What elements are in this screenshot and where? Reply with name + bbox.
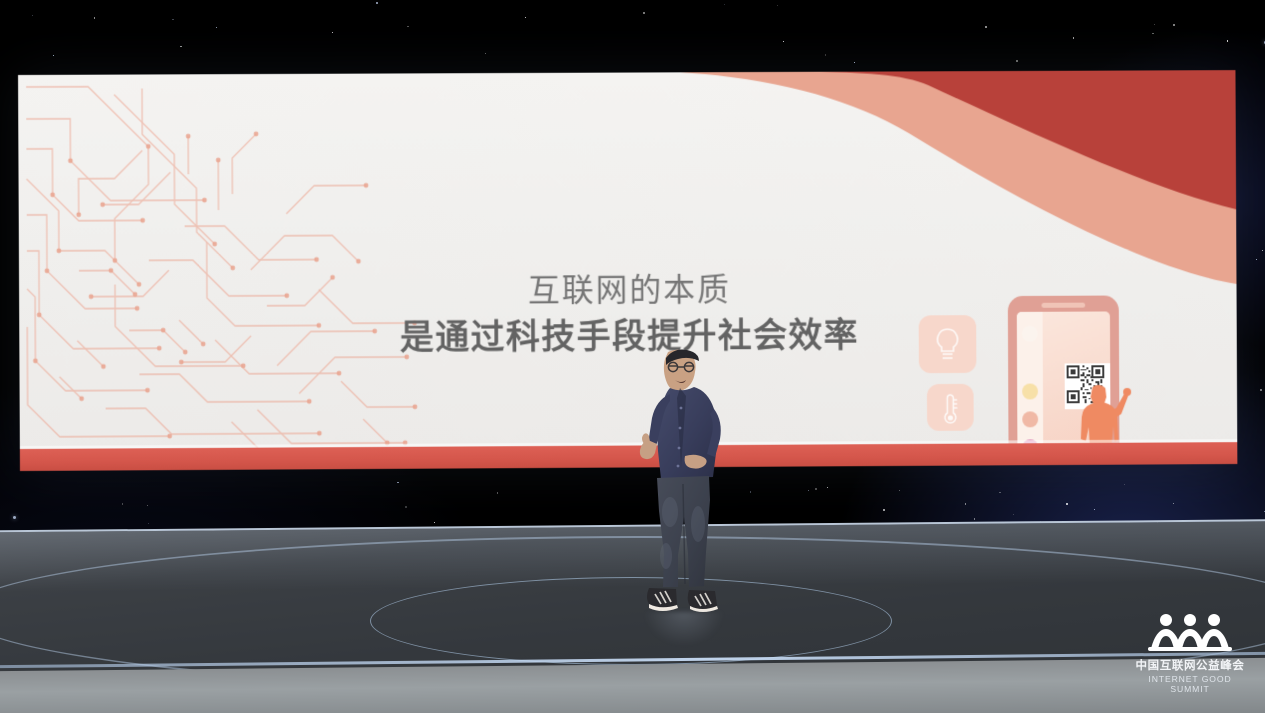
presentation-screen: 互联网的本质 是通过科技手段提升社会效率 bbox=[18, 70, 1237, 471]
app-dot-2 bbox=[1022, 384, 1038, 400]
logo-title-cn: 中国互联网公益峰会 bbox=[1128, 657, 1252, 673]
slide-headline: 互联网的本质 是通过科技手段提升社会效率 bbox=[19, 265, 1237, 365]
headline-line-2: 是通过科技手段提升社会效率 bbox=[19, 310, 1237, 364]
slide-canvas: 互联网的本质 是通过科技手段提升社会效率 bbox=[18, 70, 1237, 471]
speaker-body bbox=[648, 387, 721, 479]
logo-title-en: INTERNET GOOD SUMMIT bbox=[1128, 674, 1252, 694]
thermometer-card bbox=[927, 384, 974, 431]
thermometer-icon bbox=[927, 384, 974, 431]
stage-scene: 互联网的本质 是通过科技手段提升社会效率 bbox=[0, 0, 1265, 713]
speaker-head bbox=[664, 350, 699, 392]
speaker-shoes bbox=[647, 588, 718, 612]
event-logo: 中国互联网公益峰会 INTERNET GOOD SUMMIT bbox=[1128, 612, 1252, 694]
keynote-speaker bbox=[630, 344, 734, 616]
speaker-legs bbox=[657, 476, 710, 587]
speaker-floor-reflection bbox=[644, 612, 724, 646]
app-dot-3 bbox=[1022, 411, 1038, 427]
headline-line-1: 互联网的本质 bbox=[19, 265, 1237, 316]
three-people-logo-icon bbox=[1128, 612, 1252, 656]
